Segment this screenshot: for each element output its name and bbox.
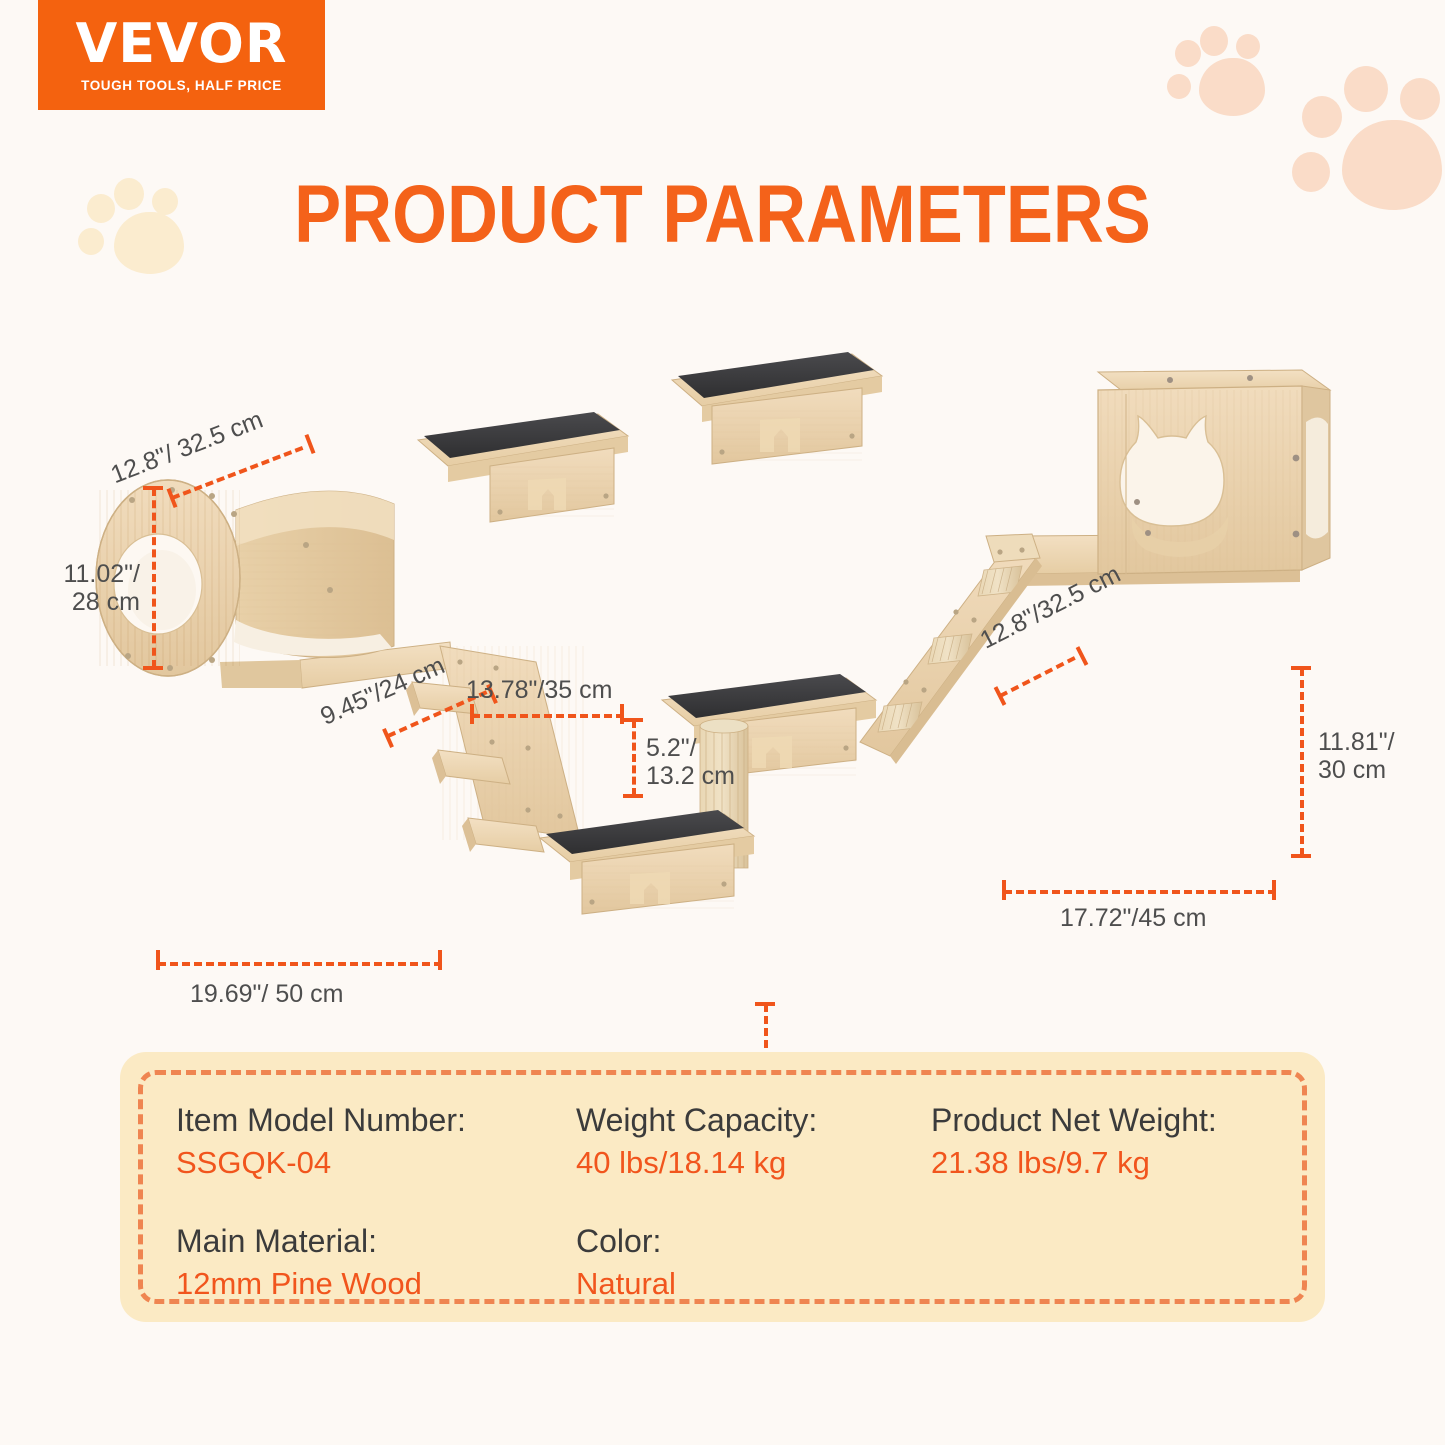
measure-cap-house-height-top bbox=[1291, 666, 1311, 670]
part-upper-left-shelf bbox=[418, 412, 628, 522]
measure-cap-shelf-height-top bbox=[623, 718, 643, 722]
measure-cap-house-height-bottom bbox=[1291, 854, 1311, 858]
spec-item-main-material: Main Material: 12mm Pine Wood bbox=[176, 1221, 576, 1304]
spec-item-model-number: Item Model Number: SSGQK-04 bbox=[176, 1100, 576, 1183]
spec-value: 12mm Pine Wood bbox=[176, 1263, 576, 1305]
spec-label: Product Net Weight: bbox=[931, 1100, 1285, 1142]
measure-cap-house-width-left bbox=[1002, 880, 1006, 900]
spec-item-color: Color: Natural bbox=[576, 1221, 931, 1304]
measure-line-shelf-width bbox=[472, 714, 624, 718]
spec-item-net-weight: Product Net Weight: 21.38 lbs/9.7 kg bbox=[931, 1100, 1285, 1183]
measure-line-tunnel-height bbox=[152, 488, 156, 668]
brand-tagline: TOUGH TOOLS, HALF PRICE bbox=[81, 78, 282, 93]
measure-line-house-height bbox=[1300, 668, 1304, 856]
product-illustration: 12.8"/ 32.5 cm 11.02"/ 28 cm 19.69"/ 50 … bbox=[0, 290, 1445, 1010]
measure-cap-post-height-top bbox=[755, 1002, 775, 1006]
dimension-tunnel-height: 11.02"/ 28 cm bbox=[48, 560, 140, 616]
measure-line-house-width bbox=[1004, 890, 1276, 894]
dimension-tunnel-width: 19.69"/ 50 cm bbox=[190, 980, 343, 1008]
brand-name: VEVOR bbox=[75, 17, 287, 71]
spec-value: 40 lbs/18.14 kg bbox=[576, 1142, 931, 1184]
part-sisal-post-perch bbox=[540, 674, 876, 914]
measure-cap-shelf-width-left bbox=[470, 704, 474, 724]
dimension-shelf-width: 13.78"/35 cm bbox=[466, 676, 612, 704]
spec-value: Natural bbox=[576, 1263, 931, 1305]
paw-print-top-right-small-icon bbox=[1165, 20, 1285, 128]
dimension-shelf-height: 5.2"/ 13.2 cm bbox=[646, 734, 735, 790]
page-title: PRODUCT PARAMETERS bbox=[101, 168, 1344, 262]
part-sisal-ramp bbox=[860, 534, 1042, 764]
measure-cap-tunnel-width-right bbox=[438, 950, 442, 970]
measure-cap-shelf-height-bottom bbox=[623, 794, 643, 798]
part-cat-tunnel bbox=[96, 480, 452, 688]
measure-cap-tunnel-height-bottom bbox=[143, 666, 163, 670]
dimension-house-height: 11.81"/ 30 cm bbox=[1318, 728, 1395, 784]
spec-item-weight-capacity: Weight Capacity: 40 lbs/18.14 kg bbox=[576, 1100, 931, 1183]
spec-label: Item Model Number: bbox=[176, 1100, 576, 1142]
spec-panel: Item Model Number: SSGQK-04 Weight Capac… bbox=[120, 1052, 1325, 1322]
measure-cap-tunnel-height-top bbox=[143, 486, 163, 490]
spec-label: Color: bbox=[576, 1221, 931, 1263]
spec-value: 21.38 lbs/9.7 kg bbox=[931, 1142, 1285, 1184]
spec-grid: Item Model Number: SSGQK-04 Weight Capac… bbox=[176, 1100, 1285, 1305]
vevor-logo: VEVOR TOUGH TOOLS, HALF PRICE bbox=[38, 0, 325, 110]
part-cat-house bbox=[1020, 370, 1330, 586]
measure-line-tunnel-width bbox=[158, 962, 442, 966]
measure-line-shelf-height bbox=[632, 720, 636, 796]
part-upper-middle-shelf bbox=[672, 352, 882, 464]
dimension-house-width: 17.72"/45 cm bbox=[1060, 904, 1206, 932]
measure-cap-house-width-right bbox=[1272, 880, 1276, 900]
spec-value: SSGQK-04 bbox=[176, 1142, 576, 1184]
measure-cap-tunnel-width-left bbox=[156, 950, 160, 970]
spec-label: Main Material: bbox=[176, 1221, 576, 1263]
spec-item-empty bbox=[931, 1221, 1285, 1304]
spec-label: Weight Capacity: bbox=[576, 1100, 931, 1142]
